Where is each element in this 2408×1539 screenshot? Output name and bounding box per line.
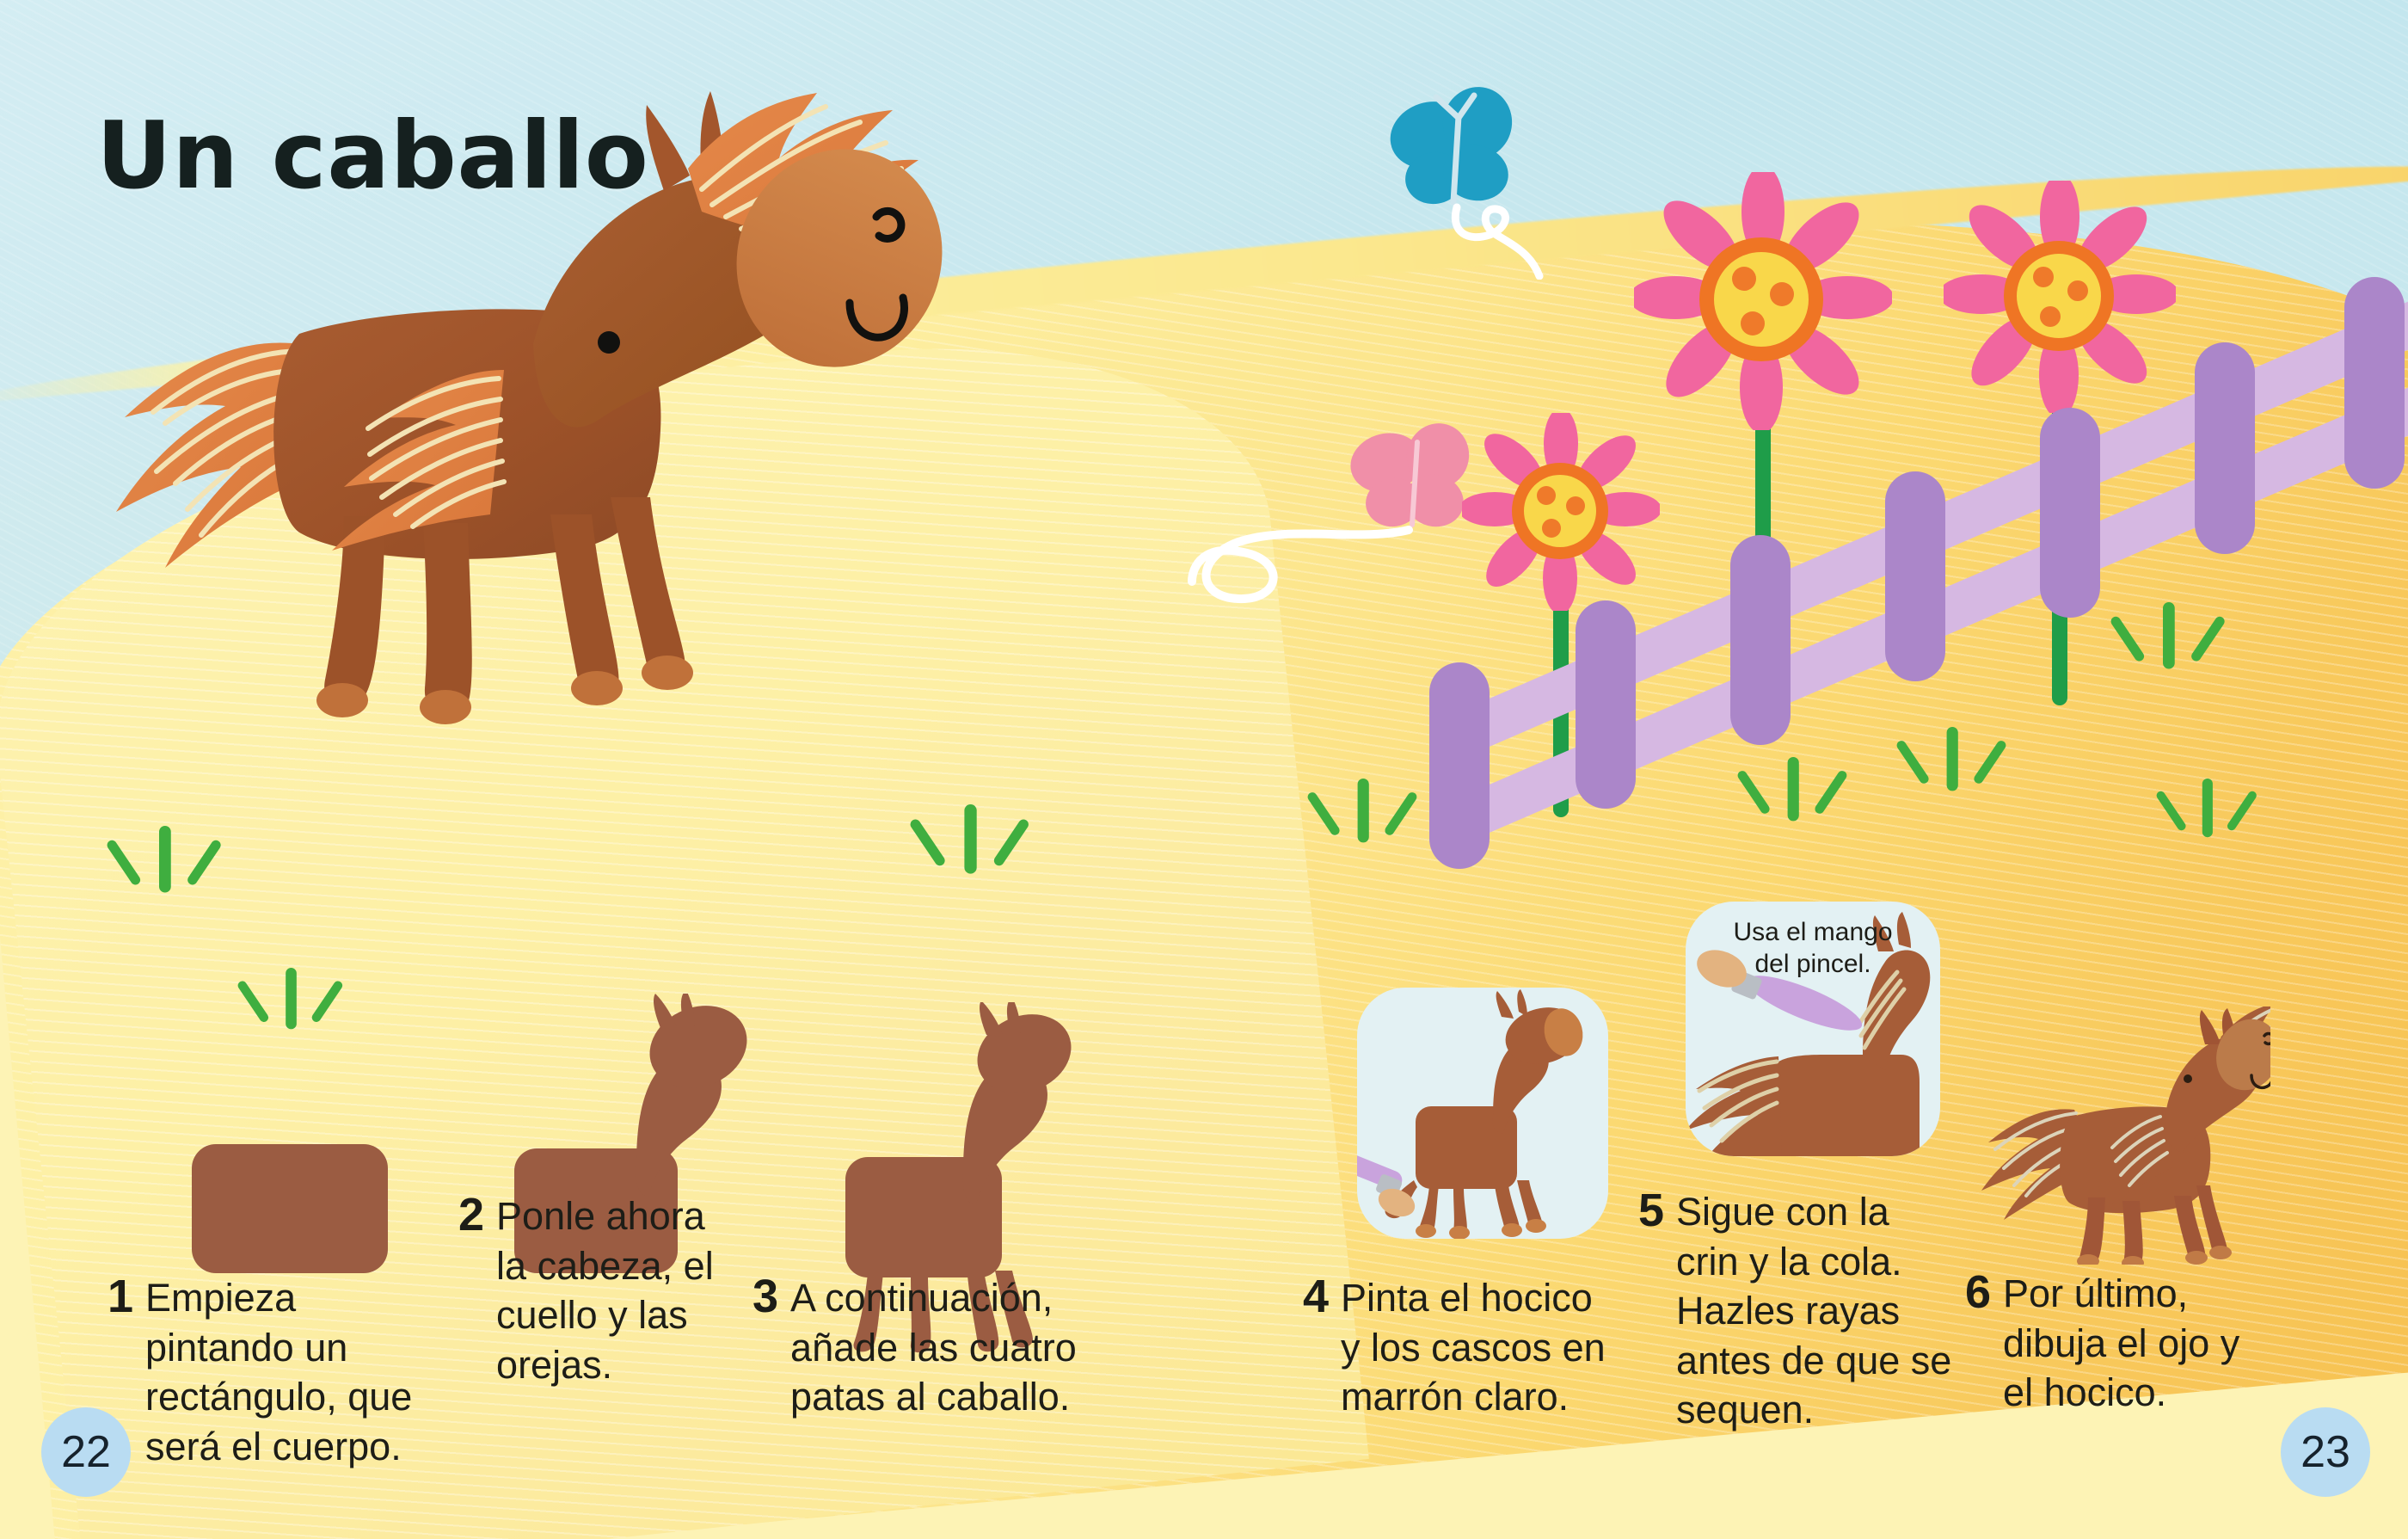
- step-3-caption: 3 A continuación, añade las cuatro patas…: [752, 1273, 1109, 1422]
- step-6-thumbnail: [1978, 1007, 2270, 1265]
- step-5-caption: 5 Sigue con la crin y la cola. Hazles ra…: [1638, 1187, 1961, 1435]
- step-6-caption: 6 Por último, dibuja el ojo y el hocico.: [1965, 1269, 2275, 1418]
- step-1-text: Empieza pintando un rectángulo, que será…: [145, 1273, 451, 1471]
- step-5-panel: Usa el mango del pincel.: [1686, 902, 1940, 1156]
- step-3-number: 3: [752, 1273, 778, 1320]
- tip-line-1: Usa el mango: [1686, 917, 1940, 949]
- step-5-number: 5: [1638, 1187, 1664, 1234]
- main-horse-illustration: [86, 86, 1101, 895]
- step-2-text: Ponle ahora la cabeza, el cuello y las o…: [496, 1191, 734, 1389]
- book-spread: Un caballo: [0, 0, 2408, 1539]
- step-6-text: Por último, dibuja el ojo y el hocico.: [2003, 1269, 2275, 1418]
- tip-text: Usa el mango del pincel.: [1686, 917, 1940, 980]
- step-6-number: 6: [1965, 1269, 1991, 1316]
- step-1-thumbnail: [185, 1136, 400, 1282]
- page-number-right: 23: [2281, 1407, 2370, 1497]
- step-4-text: Pinta el hocico y los cascos en marrón c…: [1341, 1273, 1621, 1422]
- fence: [1393, 198, 2408, 877]
- horse-eye: [598, 331, 620, 354]
- butterfly-trail: [1192, 530, 1409, 599]
- tip-line-2: del pincel.: [1686, 949, 1940, 981]
- step-4-number: 4: [1303, 1273, 1329, 1320]
- step-4-illustration: [1357, 988, 1608, 1239]
- step-2-number: 2: [458, 1191, 484, 1239]
- step-4-panel: [1357, 988, 1608, 1239]
- step-1-caption: 1 Empieza pintando un rectángulo, que se…: [107, 1273, 451, 1471]
- paintbrush-icon: [1357, 1141, 1419, 1222]
- step-3-text: A continuación, añade las cuatro patas a…: [790, 1273, 1109, 1422]
- step-4-caption: 4 Pinta el hocico y los cascos en marrón…: [1303, 1273, 1621, 1422]
- page-number-left: 22: [41, 1407, 131, 1497]
- step-1-number: 1: [107, 1273, 133, 1320]
- step-5-text: Sigue con la crin y la cola. Hazles raya…: [1676, 1187, 1961, 1435]
- step-2-caption: 2 Ponle ahora la cabeza, el cuello y las…: [458, 1191, 734, 1389]
